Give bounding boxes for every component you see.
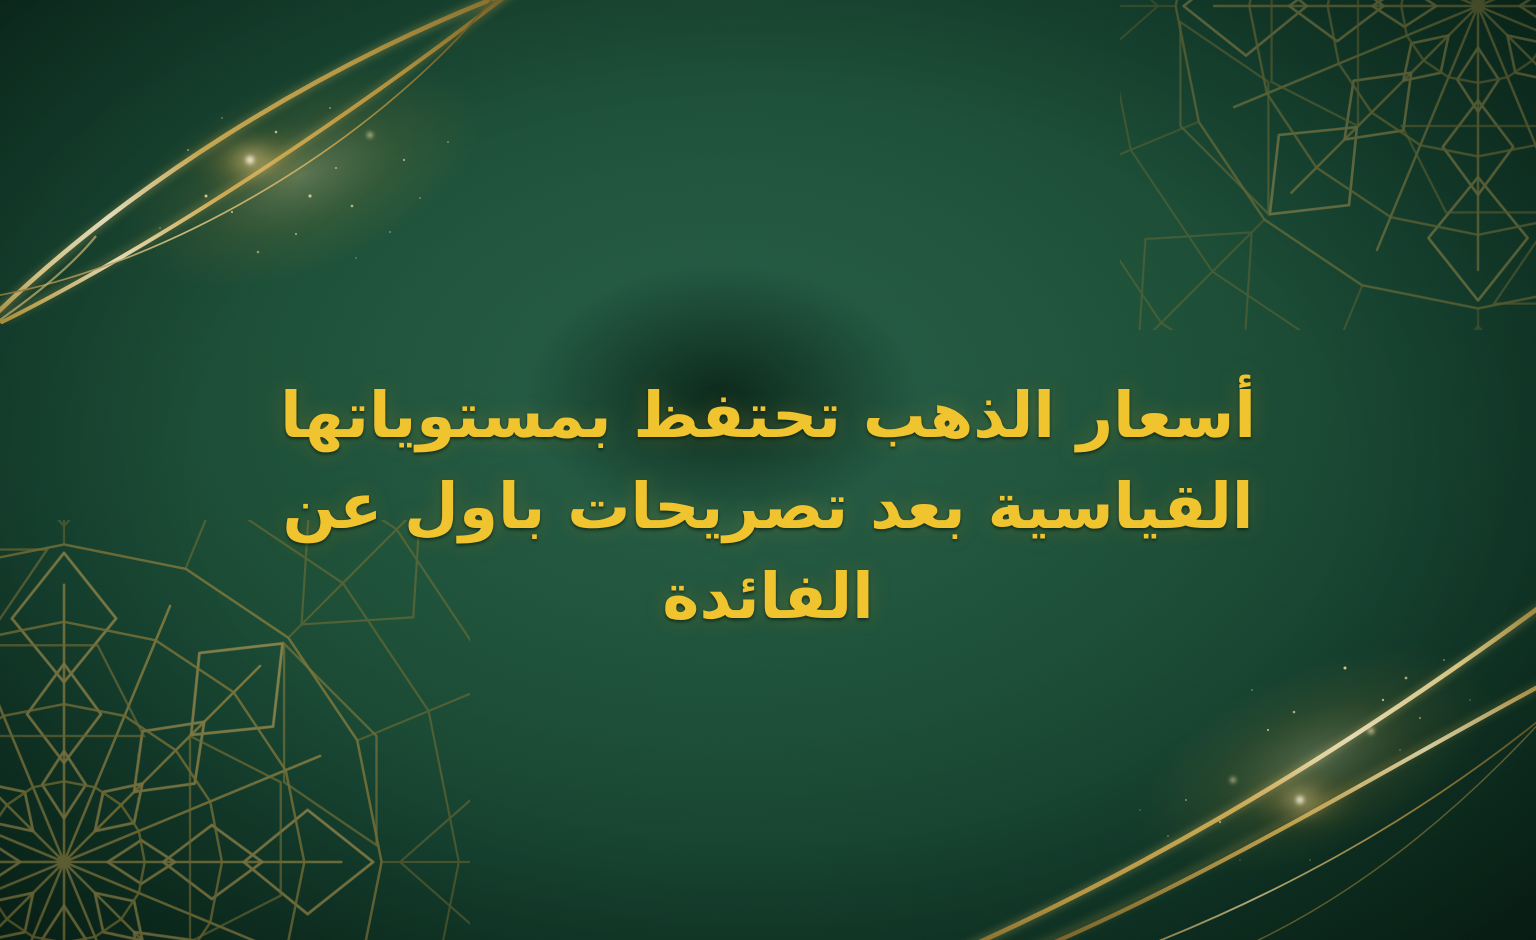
headline-container: أسعار الذهب تحتفظ بمستوياتها القياسية بع…	[0, 0, 1536, 940]
news-banner: أسعار الذهب تحتفظ بمستوياتها القياسية بع…	[0, 0, 1536, 940]
headline-text: أسعار الذهب تحتفظ بمستوياتها القياسية بع…	[263, 297, 1273, 643]
